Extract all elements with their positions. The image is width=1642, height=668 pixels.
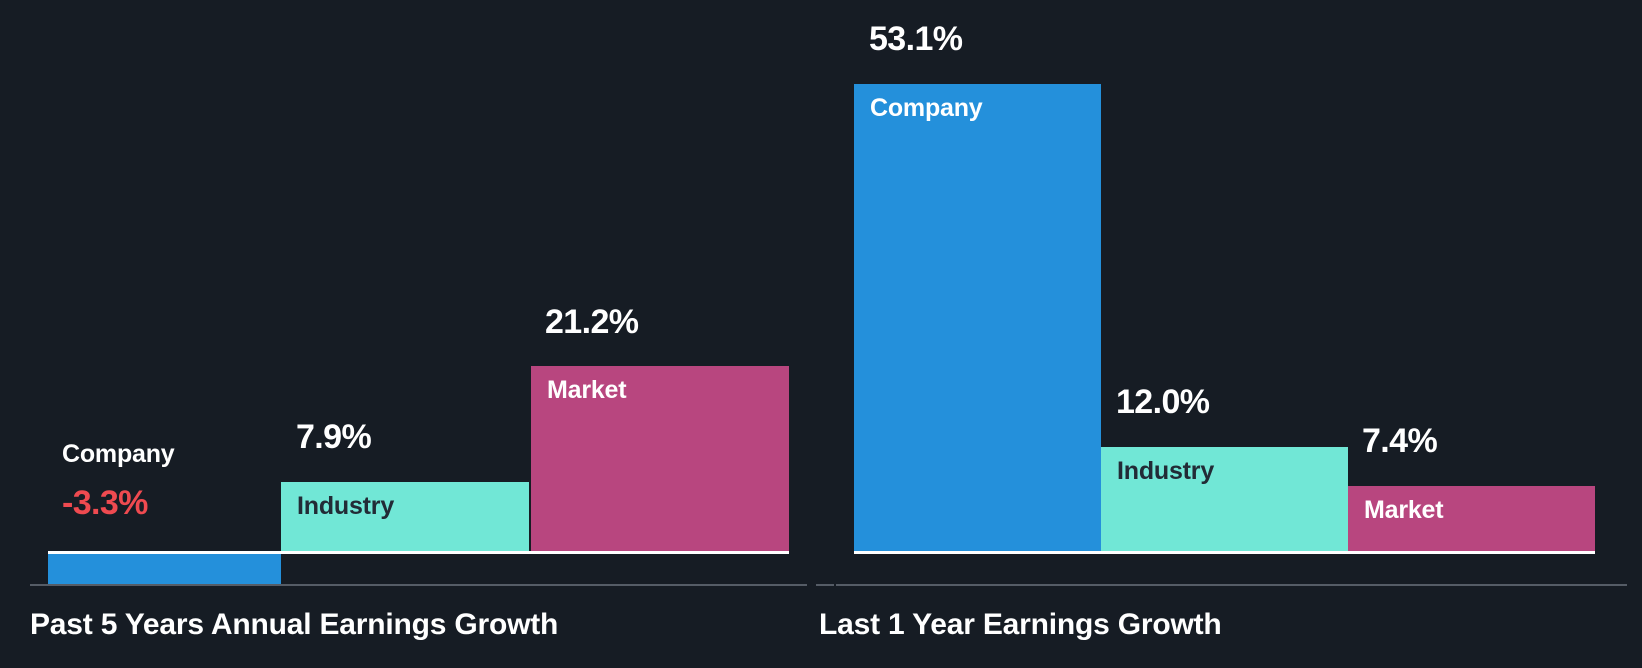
bar-value-industry-past-5-years: 7.9% xyxy=(296,418,371,457)
chart-canvas: Company -3.3% Industry 7.9% Market 21.2%… xyxy=(0,0,1642,668)
axis-line-past-5-years xyxy=(30,584,807,586)
bar-industry-last-1-year[interactable]: Industry xyxy=(1101,447,1348,552)
bar-value-market-past-5-years: 21.2% xyxy=(545,303,638,342)
bar-label-company-last-1-year: Company xyxy=(870,94,983,123)
panel-title-past-5-years: Past 5 Years Annual Earnings Growth xyxy=(30,608,558,642)
zero-line-past-5-years xyxy=(48,551,789,554)
bar-market-past-5-years[interactable]: Market xyxy=(531,366,789,552)
axis-line-last-1-year xyxy=(836,584,1627,586)
plot-area-past-5-years: Company -3.3% Industry 7.9% Market 21.2% xyxy=(0,0,821,668)
chart-panel-last-1-year: Company 53.1% Industry 12.0% Market 7.4%… xyxy=(821,0,1642,668)
bar-value-company-past-5-years: -3.3% xyxy=(62,484,148,523)
axis-tick-last-1-year xyxy=(816,584,834,586)
bar-company-past-5-years[interactable] xyxy=(48,554,281,584)
zero-line-last-1-year xyxy=(854,551,1595,554)
bar-value-company-last-1-year: 53.1% xyxy=(869,20,962,59)
bar-label-industry-past-5-years: Industry xyxy=(297,492,394,521)
panel-title-last-1-year: Last 1 Year Earnings Growth xyxy=(819,608,1222,642)
bar-market-last-1-year[interactable]: Market xyxy=(1348,486,1595,552)
bar-value-market-last-1-year: 7.4% xyxy=(1362,422,1437,461)
bar-label-company-past-5-years: Company xyxy=(62,440,175,469)
chart-panel-past-5-years: Company -3.3% Industry 7.9% Market 21.2%… xyxy=(0,0,821,668)
bar-value-industry-last-1-year: 12.0% xyxy=(1116,383,1209,422)
bar-label-industry-last-1-year: Industry xyxy=(1117,457,1214,486)
bar-company-last-1-year[interactable]: Company xyxy=(854,84,1101,552)
plot-area-last-1-year: Company 53.1% Industry 12.0% Market 7.4% xyxy=(821,0,1642,668)
bar-industry-past-5-years[interactable]: Industry xyxy=(281,482,529,552)
bar-label-market-past-5-years: Market xyxy=(547,376,626,405)
bar-label-market-last-1-year: Market xyxy=(1364,496,1443,525)
